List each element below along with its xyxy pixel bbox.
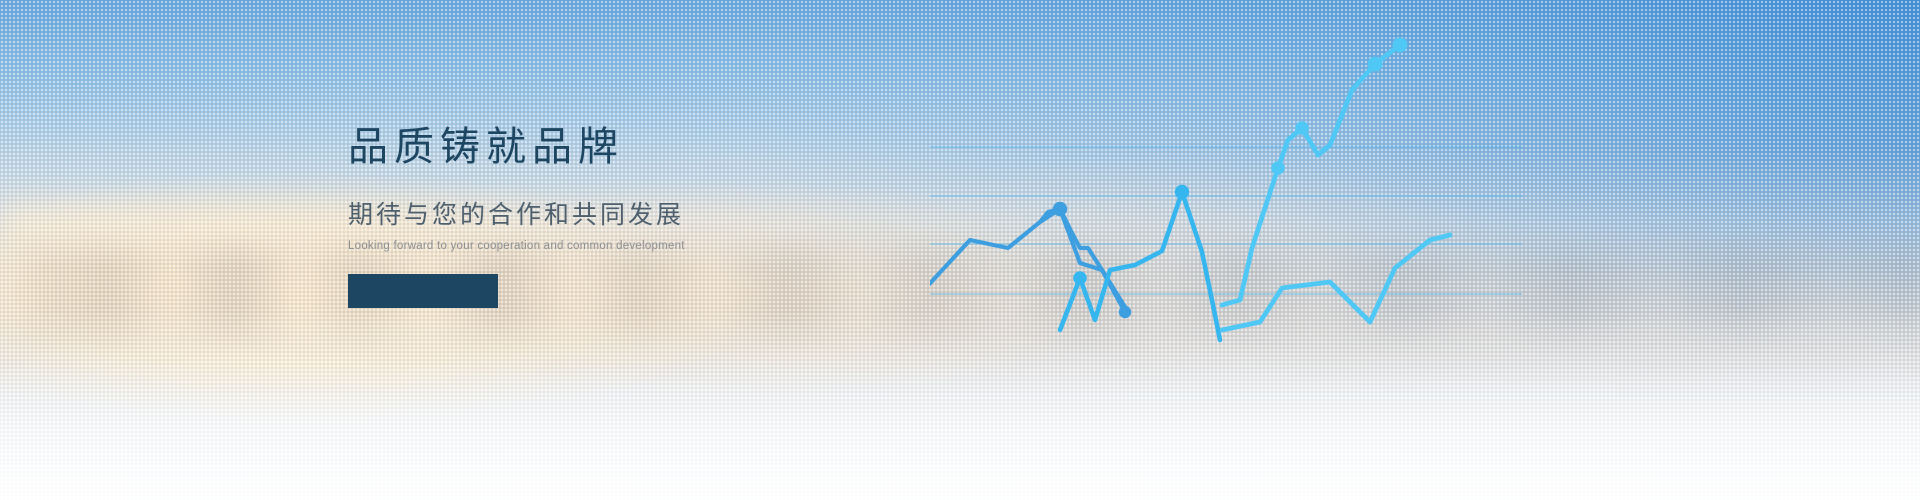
data-point-marker	[1295, 121, 1309, 135]
data-point-marker	[1368, 57, 1383, 72]
chart-series-4	[1222, 235, 1450, 330]
data-point-marker	[1271, 161, 1285, 175]
hero-copy-block: 品质铸就品牌 期待与您的合作和共同发展 Looking forward to y…	[348, 125, 685, 308]
chart-series-3	[1222, 38, 1407, 305]
line-chart: 100000 80000 60000 40000	[930, 0, 1920, 500]
chart-gridlines	[930, 147, 1522, 294]
data-point-marker	[1119, 306, 1131, 318]
hero-subheadline: 期待与您的合作和共同发展	[348, 195, 685, 231]
hero-headline: 品质铸就品牌	[348, 125, 685, 169]
data-point-marker	[1393, 38, 1408, 53]
hero-tagline-english: Looking forward to your cooperation and …	[348, 240, 685, 252]
data-point-marker	[1175, 185, 1189, 199]
data-point-marker	[1053, 202, 1067, 216]
hero-banner: 品质铸就品牌 期待与您的合作和共同发展 Looking forward to y…	[0, 0, 1920, 500]
data-point-marker	[1073, 271, 1087, 285]
hero-cta-button[interactable]	[348, 274, 498, 308]
